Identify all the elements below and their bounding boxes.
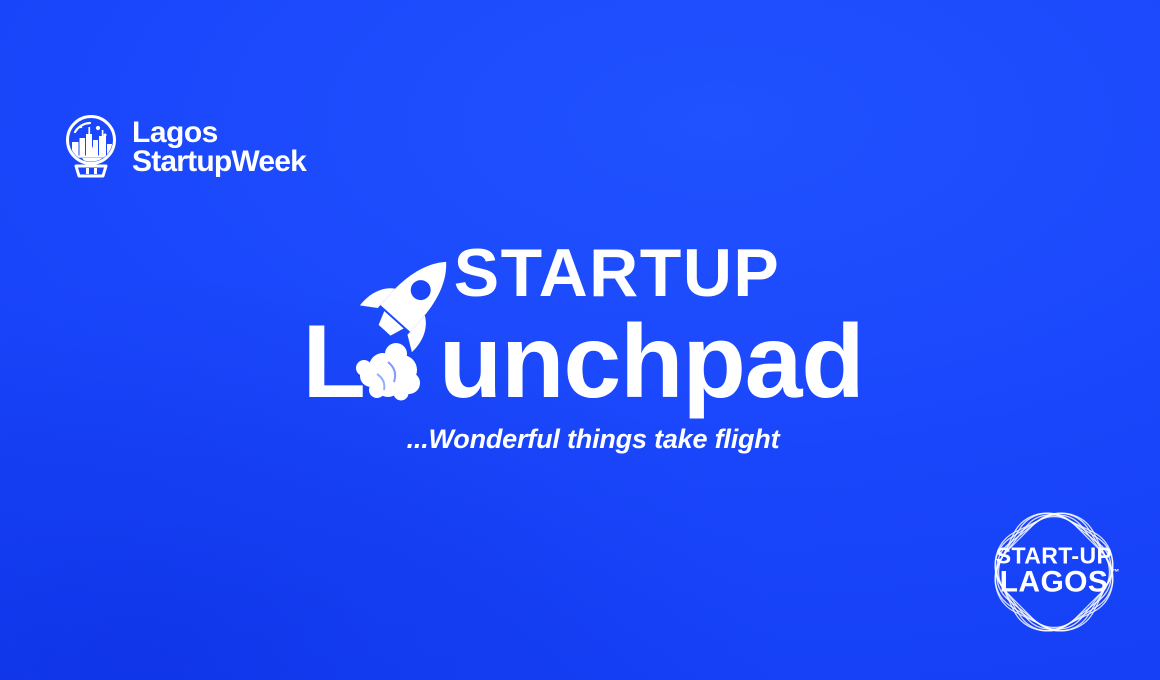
- hero-line-startup: STARTUP: [454, 236, 781, 310]
- hero-line-startup-row: STARTUP: [0, 236, 1160, 310]
- lagos-startup-week-wordmark: Lagos StartupWeek: [132, 118, 306, 177]
- brand-line-startupweek: StartupWeek: [132, 147, 306, 176]
- badge-line-startup: START-UP: [970, 544, 1138, 567]
- launchpad-prefix: L: [302, 304, 364, 420]
- launchpad-suffix: unchpad: [439, 304, 864, 420]
- badge-line-lagos: LAGOS™: [1000, 567, 1109, 597]
- hero-wordmark: STARTUP Lunchpad ...Wonderful things tak…: [0, 236, 1160, 455]
- presentation-slide: Lagos StartupWeek STARTUP Lunchpad ...Wo…: [0, 0, 1160, 680]
- startup-lagos-badge: START-UP LAGOS™: [970, 494, 1138, 650]
- trademark-symbol: ™: [1111, 568, 1119, 576]
- hero-tagline: ...Wonderful things take flight: [0, 424, 1160, 455]
- badge-lagos-text: LAGOS: [1000, 565, 1109, 598]
- lagos-startup-week-logo: Lagos StartupWeek: [62, 114, 306, 180]
- brand-line-lagos: Lagos: [132, 118, 306, 147]
- hero-line-launchpad-row: Lunchpad: [0, 310, 1160, 414]
- startup-lagos-wordmark: START-UP LAGOS™: [970, 544, 1138, 597]
- hero-line-launchpad: Lunchpad: [302, 310, 863, 414]
- lagos-snow-globe-icon: [62, 114, 120, 180]
